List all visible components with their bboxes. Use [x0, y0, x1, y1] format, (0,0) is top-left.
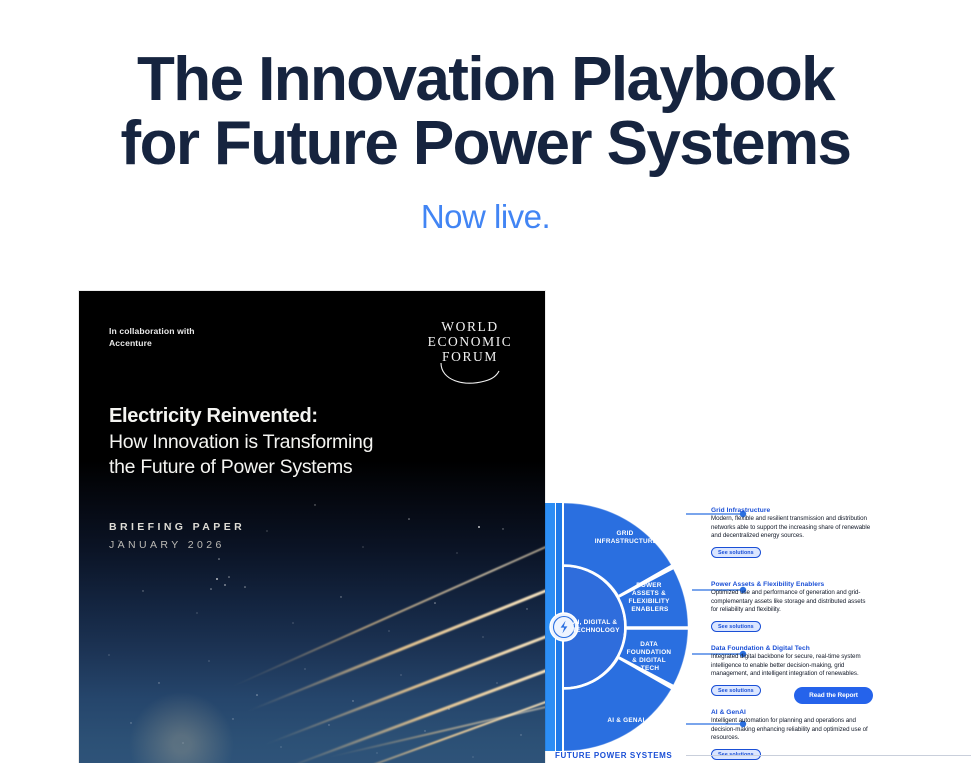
cover-title-sub: How Innovation is Transforming the Futur…	[109, 430, 373, 480]
cover-title-main: Electricity Reinvented:	[109, 403, 373, 430]
description-title: Power Assets & Flexibility Enablers	[711, 581, 871, 588]
logo-line-2: ECONOMIC	[423, 334, 517, 349]
hero-subtitle: Now live.	[0, 198, 971, 236]
description-title: AI & GenAI	[711, 709, 871, 716]
document-date: JANUARY 2026	[109, 536, 245, 554]
see-solutions-button[interactable]: See solutions	[711, 685, 761, 696]
cover-meta: BRIEFING PAPER JANUARY 2026	[109, 518, 245, 554]
wheel-graphic: GRID INFRASTRUCTURE POWER ASSETS & FLEXI…	[540, 501, 706, 753]
see-solutions-button[interactable]: See solutions	[711, 547, 761, 558]
hero-section: The Innovation Playbook for Future Power…	[0, 48, 971, 236]
description-body: Integrated digital backbone for secure, …	[711, 653, 871, 679]
page-title: The Innovation Playbook for Future Power…	[0, 48, 971, 176]
footer-kicker: FUTURE POWER SYSTEMS	[555, 751, 672, 760]
description-data-foundation: Data Foundation & Digital Tech Integrate…	[711, 645, 871, 697]
description-title: Data Foundation & Digital Tech	[711, 645, 871, 652]
logo-line-1: WORLD	[423, 319, 517, 334]
cover-title: Electricity Reinvented: How Innovation i…	[109, 403, 373, 480]
description-ai-genai: AI & GenAI Intelligent automation for pl…	[711, 709, 871, 761]
description-power-assets: Power Assets & Flexibility Enablers Opti…	[711, 581, 871, 633]
description-grid-infrastructure: Grid Infrastructure Modern, flexible and…	[711, 507, 871, 559]
capability-wheel-diagram: GRID INFRASTRUCTURE POWER ASSETS & FLEXI…	[540, 501, 971, 763]
world-economic-forum-logo: WORLD ECONOMIC FORUM	[423, 319, 517, 393]
description-body: Modern, flexible and resilient transmiss…	[711, 515, 871, 541]
see-solutions-button[interactable]: See solutions	[711, 621, 761, 632]
logo-swoosh-icon	[423, 362, 517, 388]
svg-text:AI & GENAI: AI & GENAI	[607, 717, 644, 724]
svg-text:AI, DIGITAL & TECH: AI, DIGITAL & TECHNOLOGY	[572, 619, 620, 634]
description-title: Grid Infrastructure	[711, 507, 871, 514]
description-body: Intelligent automation for planning and …	[711, 717, 871, 743]
collaboration-note: In collaboration with Accenture	[109, 325, 195, 349]
document-type: BRIEFING PAPER	[109, 518, 245, 536]
report-cover-image[interactable]: In collaboration with Accenture WORLD EC…	[79, 291, 545, 763]
footer-divider	[686, 755, 971, 756]
description-body: Optimized use and performance of generat…	[711, 589, 871, 615]
cover-top-bar	[79, 291, 545, 296]
